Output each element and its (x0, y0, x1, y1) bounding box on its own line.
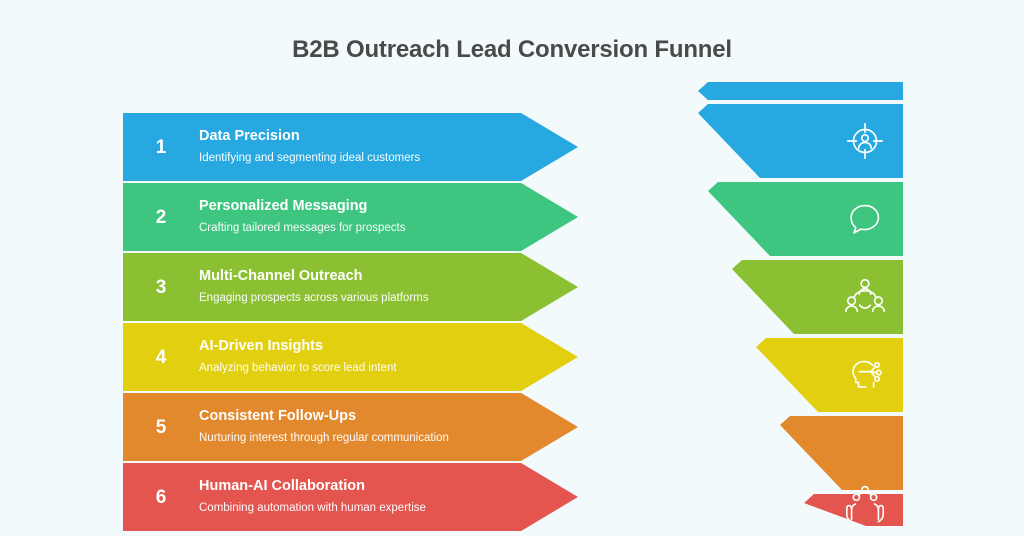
step-number: 5 (123, 418, 199, 437)
funnel-band-cap (698, 82, 903, 100)
target-person-icon (842, 118, 888, 164)
step-title: AI-Driven Insights (199, 338, 518, 355)
hands-network-icon (842, 481, 888, 527)
list-item[interactable]: 4 AI-Driven Insights Analyzing behavior … (123, 323, 578, 391)
step-text-block: Multi-Channel Outreach Engaging prospect… (199, 268, 578, 306)
step-text-block: Consistent Follow-Ups Nurturing interest… (199, 408, 578, 446)
step-description: Analyzing behavior to score lead intent (199, 362, 518, 376)
step-title: Consistent Follow-Ups (199, 408, 518, 425)
people-group-icon (842, 274, 888, 320)
step-description: Combining automation with human expertis… (199, 502, 518, 516)
step-title: Personalized Messaging (199, 198, 518, 215)
step-description: Nurturing interest through regular commu… (199, 432, 518, 446)
list-item[interactable]: 3 Multi-Channel Outreach Engaging prospe… (123, 253, 578, 321)
step-text-block: Personalized Messaging Crafting tailored… (199, 198, 578, 236)
step-description: Engaging prospects across various platfo… (199, 292, 518, 306)
infographic-canvas: B2B Outreach Lead Conversion Funnel 1 Da… (0, 0, 1024, 536)
step-text-block: Human-AI Collaboration Combining automat… (199, 478, 578, 516)
page-title: B2B Outreach Lead Conversion Funnel (0, 36, 1024, 64)
list-item[interactable]: 6 Human-AI Collaboration Combining autom… (123, 463, 578, 531)
step-list: 1 Data Precision Identifying and segment… (123, 113, 578, 525)
step-description: Identifying and segmenting ideal custome… (199, 152, 518, 166)
step-number: 2 (123, 208, 199, 227)
step-text-block: AI-Driven Insights Analyzing behavior to… (199, 338, 578, 376)
step-number: 3 (123, 278, 199, 297)
step-number: 1 (123, 138, 199, 157)
funnel-diagram (690, 78, 920, 530)
step-description: Crafting tailored messages for prospects (199, 222, 518, 236)
step-number: 4 (123, 348, 199, 367)
list-item[interactable]: 2 Personalized Messaging Crafting tailor… (123, 183, 578, 251)
list-item[interactable]: 5 Consistent Follow-Ups Nurturing intere… (123, 393, 578, 461)
step-title: Data Precision (199, 128, 518, 145)
funnel-band-5 (780, 416, 903, 490)
speech-bubble-icon (842, 196, 888, 242)
step-number: 6 (123, 488, 199, 507)
step-text-block: Data Precision Identifying and segmentin… (199, 128, 578, 166)
ai-brain-network-icon (842, 352, 888, 398)
list-item[interactable]: 1 Data Precision Identifying and segment… (123, 113, 578, 181)
step-title: Multi-Channel Outreach (199, 268, 518, 285)
step-title: Human-AI Collaboration (199, 478, 518, 495)
